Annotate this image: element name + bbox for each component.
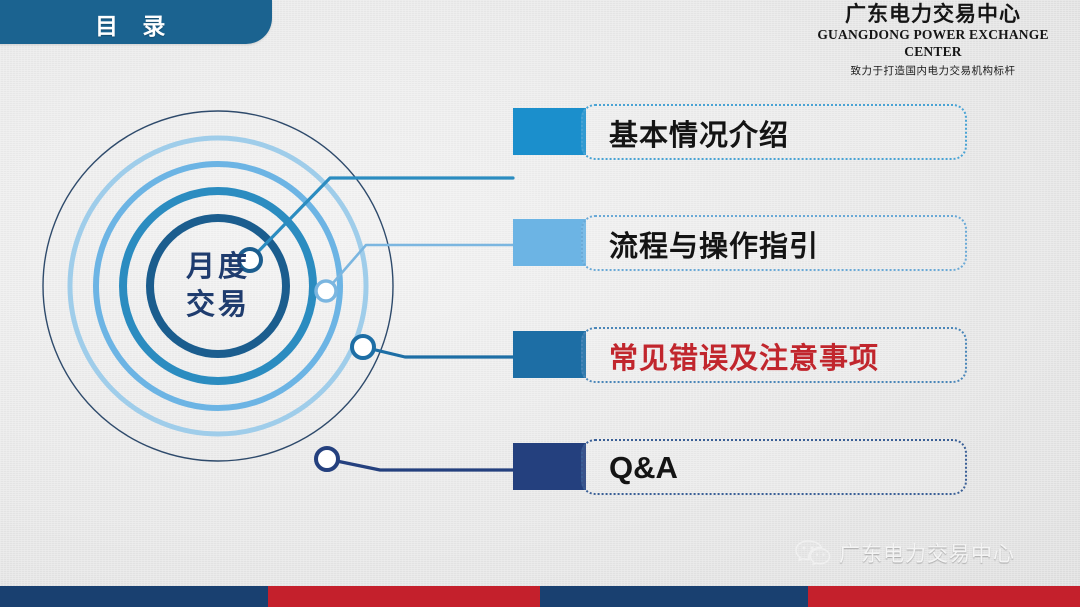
menu-item-4-label: Q&A (609, 444, 678, 492)
slide-canvas: 目 录 广东电力交易中心 GUANGDONG POWER EXCHANGE CE… (0, 0, 1080, 607)
wechat-account-name: 广东电力交易中心 (839, 538, 1015, 568)
diagram-center-label-line2: 交易 (186, 287, 250, 321)
wechat-account: 广东电力交易中心 (795, 538, 1015, 568)
menu-item-3-label: 常见错误及注意事项 (609, 332, 879, 380)
bottom-bar-segment-3 (540, 586, 808, 607)
connector-line-4 (327, 459, 513, 470)
diagram-center-label-line1: 月度 (185, 249, 250, 283)
node-dot-4[interactable] (316, 448, 338, 470)
node-dot-3[interactable] (352, 336, 374, 358)
bottom-bar-segment-4 (808, 586, 1080, 607)
menu-item-4-marker (513, 443, 586, 490)
logo-slogan: 致力于打造国内电力交易机构标杆 (802, 63, 1064, 78)
logo-chinese-name: 广东电力交易中心 (802, 2, 1064, 26)
logo-english-name: GUANGDONG POWER EXCHANGE CENTER (802, 27, 1064, 61)
bottom-color-bar (0, 586, 1080, 607)
ring-inner (150, 218, 286, 354)
ring-light (96, 164, 340, 408)
connector-line-3 (363, 347, 513, 357)
page-title: 目 录 (95, 7, 174, 41)
menu-item-3-marker (513, 331, 586, 378)
bottom-bar-segment-2 (268, 586, 540, 607)
bottom-bar-segment-1 (0, 586, 268, 607)
menu-item-1-marker (513, 108, 586, 155)
connector-line-2 (326, 245, 513, 291)
monthly-trading-diagram: 月度 交易 (0, 60, 600, 540)
menu-item-1-label: 基本情况介绍 (609, 109, 789, 157)
menu-item-2-label: 流程与操作指引 (609, 220, 819, 268)
menu-item-2-marker (513, 219, 586, 266)
wechat-icon (795, 539, 831, 567)
brand-logo: 广东电力交易中心 GUANGDONG POWER EXCHANGE CENTER… (802, 2, 1064, 78)
node-dot-2[interactable] (316, 281, 336, 301)
